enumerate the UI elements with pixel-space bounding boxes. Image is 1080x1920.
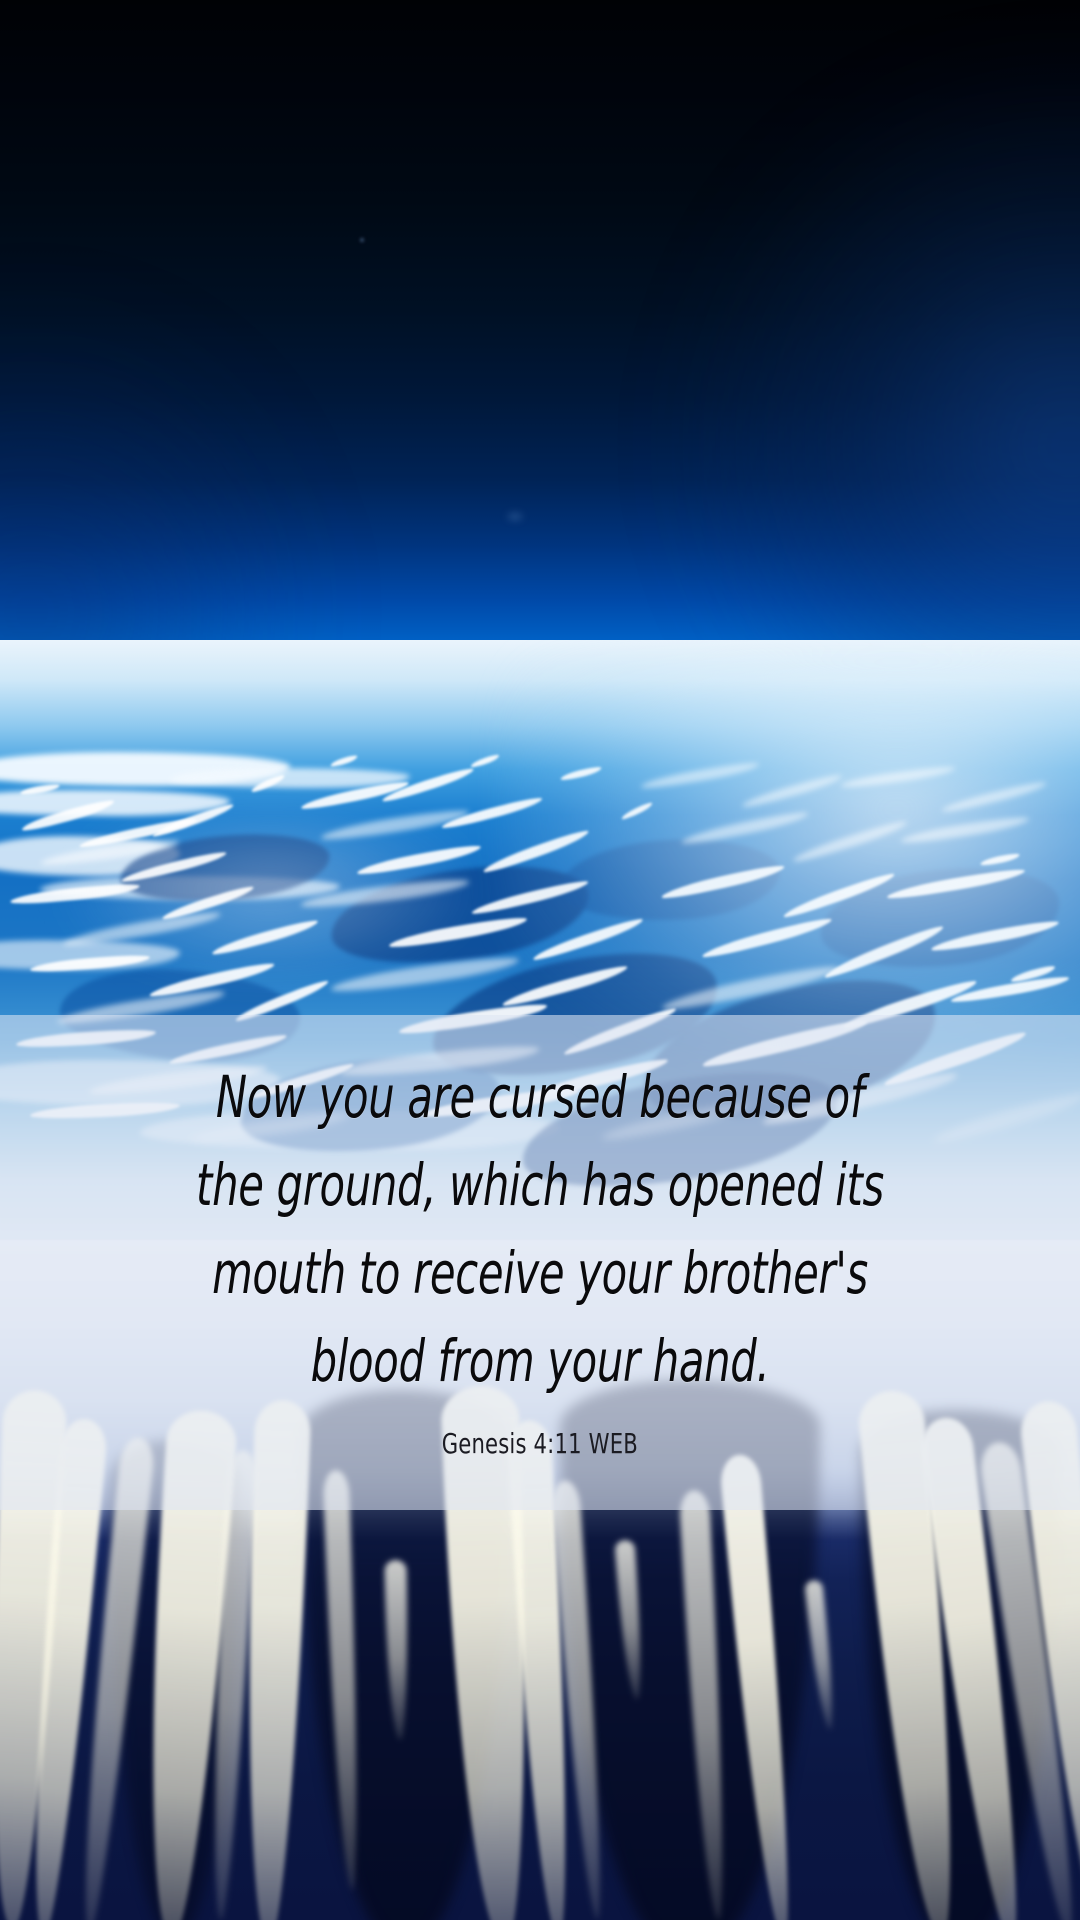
bible-verse-wallpaper: Now you are cursed because of the ground…	[0, 0, 1080, 1920]
sun-glare-center	[60, 800, 480, 980]
star-speck-icon	[360, 238, 364, 242]
sun-glare-right	[500, 650, 1080, 1070]
verse-reference: Genesis 4:11 WEB	[442, 1405, 638, 1460]
star-speck-secondary-icon	[508, 513, 522, 520]
verse-quote-text: Now you are cursed because of the ground…	[180, 1053, 900, 1405]
verse-overlay-band: Now you are cursed because of the ground…	[0, 1015, 1080, 1510]
